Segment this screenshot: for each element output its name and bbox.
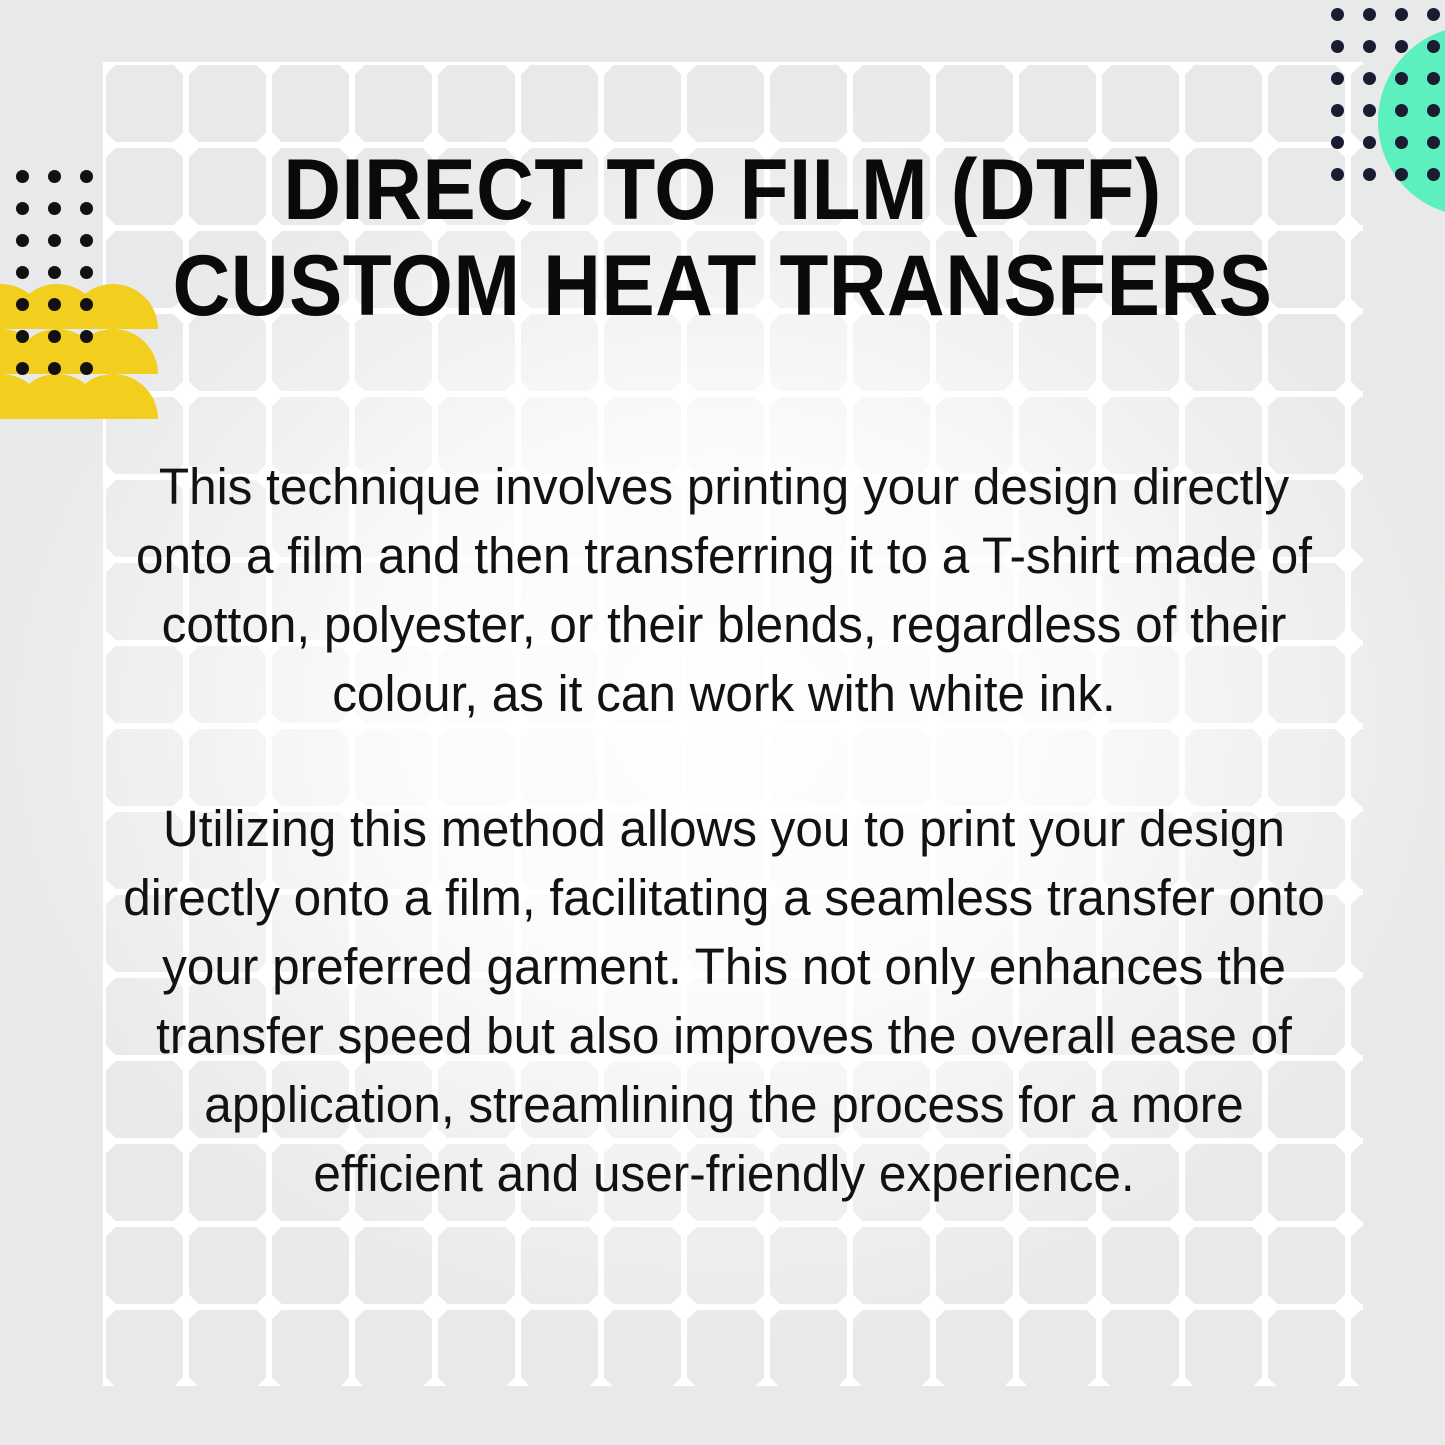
body-paragraph-1: This technique involves printing your de… [114, 452, 1334, 728]
page-title: DIRECT TO FILM (DTF) CUSTOM HEAT TRANSFE… [162, 142, 1283, 334]
page-title-line-2: CUSTOM HEAT TRANSFERS [162, 238, 1283, 334]
body-paragraph-2: Utilizing this method allows you to prin… [114, 794, 1334, 1208]
page-title-line-1: DIRECT TO FILM (DTF) [162, 142, 1283, 238]
body-copy: This technique involves printing your de… [114, 452, 1334, 1208]
poster-canvas: DIRECT TO FILM (DTF) CUSTOM HEAT TRANSFE… [0, 0, 1445, 1445]
poster-content: DIRECT TO FILM (DTF) CUSTOM HEAT TRANSFE… [0, 0, 1445, 1445]
